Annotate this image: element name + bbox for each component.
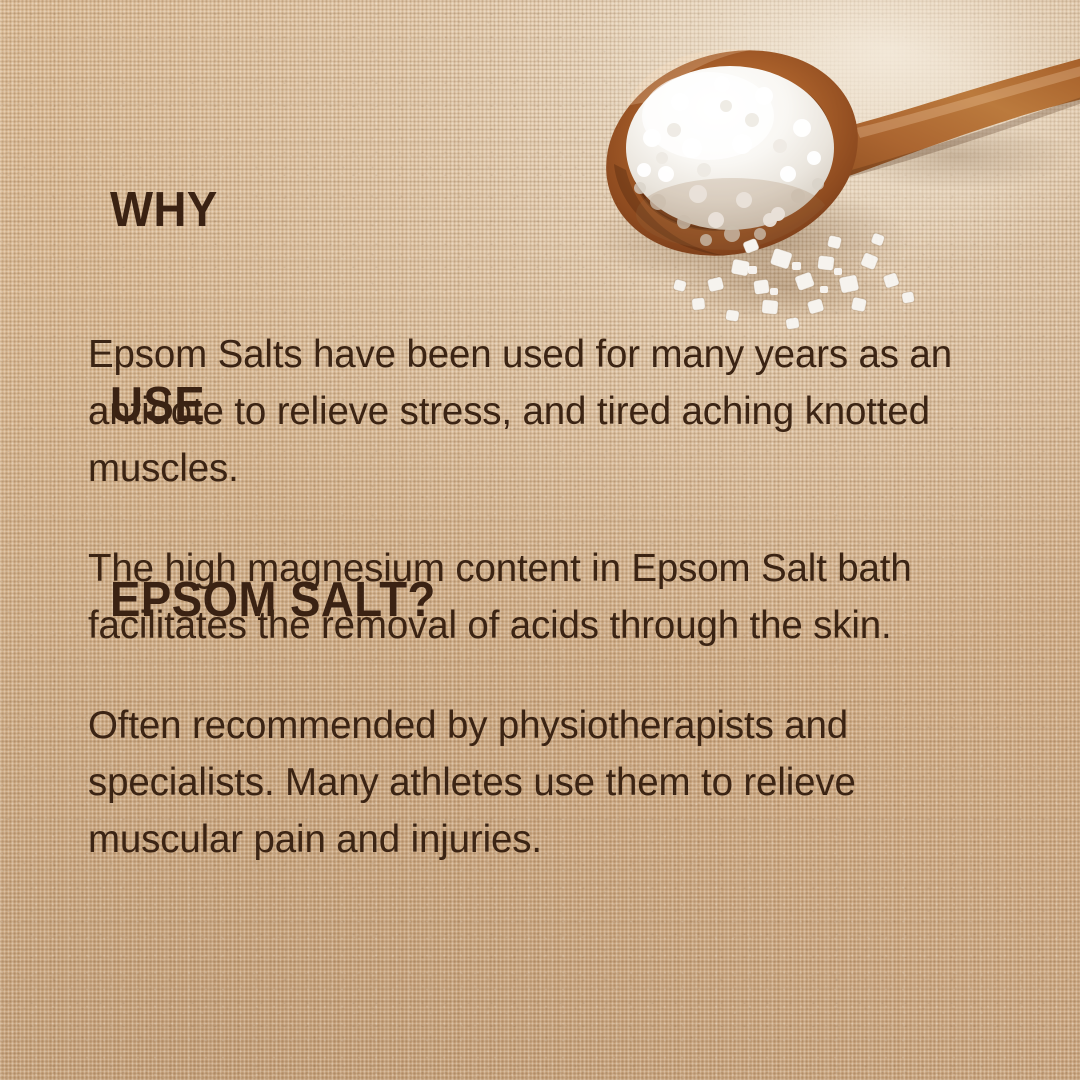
salt-pile-in-spoon [626, 66, 834, 250]
paragraph-3: Often recommended by physiotherapists an… [88, 697, 1063, 868]
paragraph-1: Epsom Salts have been used for many year… [88, 326, 1063, 497]
epsom-salt-infographic: WHY USE EPSOM SALT? Epsom Salts have bee… [0, 0, 1080, 1080]
paragraph-3-line-3: muscular pain and injuries. [88, 811, 1063, 868]
paragraph-1-line-2: antidote to relieve stress, and tired ac… [88, 383, 1063, 440]
paragraph-2: The high magnesium content in Epsom Salt… [88, 540, 1063, 654]
paragraph-2-line-1: The high magnesium content in Epsom Salt… [88, 540, 1063, 597]
wooden-spoon-with-epsom-salt-photo [556, 0, 1080, 348]
paragraph-1-line-3: muscles. [88, 440, 1063, 497]
paragraph-3-line-1: Often recommended by physiotherapists an… [88, 697, 1063, 754]
paragraph-3-line-2: specialists. Many athletes use them to r… [88, 754, 1063, 811]
paragraph-1-line-1: Epsom Salts have been used for many year… [88, 326, 1063, 383]
paragraph-2-line-2: facilitates the removal of acids through… [88, 597, 1063, 654]
body-copy: Epsom Salts have been used for many year… [88, 326, 1063, 868]
page-title-line-1: WHY [110, 178, 436, 243]
